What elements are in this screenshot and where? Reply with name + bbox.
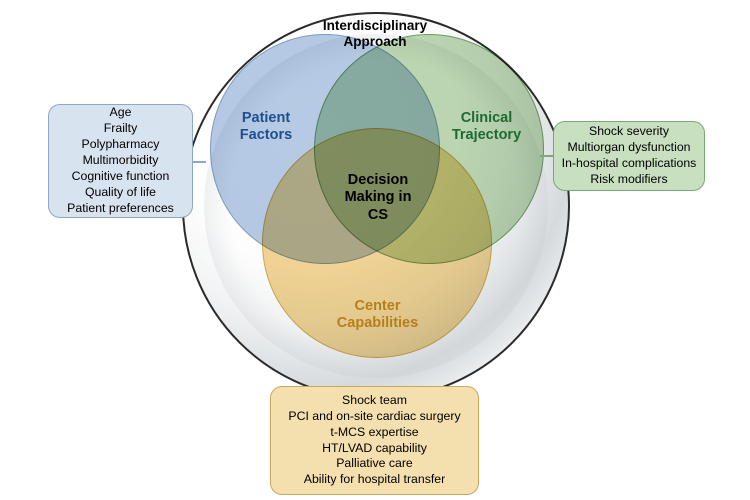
callout-patient-factors[interactable]: Age Frailty Polypharmacy Multimorbidity … xyxy=(48,104,193,218)
connector-right xyxy=(540,155,554,157)
circle-label-patient-factors: Patient Factors xyxy=(206,110,326,145)
circle-label-clinical-trajectory: Clinical Trajectory xyxy=(424,110,549,145)
circle-label-center-capabilities: Center Capabilities xyxy=(310,298,445,333)
callout-clinical-trajectory[interactable]: Shock severity Multiorgan dysfunction In… xyxy=(553,121,705,191)
callout-center-capabilities[interactable]: Shock team PCI and on-site cardiac surge… xyxy=(270,386,479,495)
circle-label-decision-making: Decision Making in CS xyxy=(318,172,438,224)
diagram-canvas: Interdisciplinary Approach Patient Facto… xyxy=(0,0,750,500)
connector-left xyxy=(192,161,206,163)
